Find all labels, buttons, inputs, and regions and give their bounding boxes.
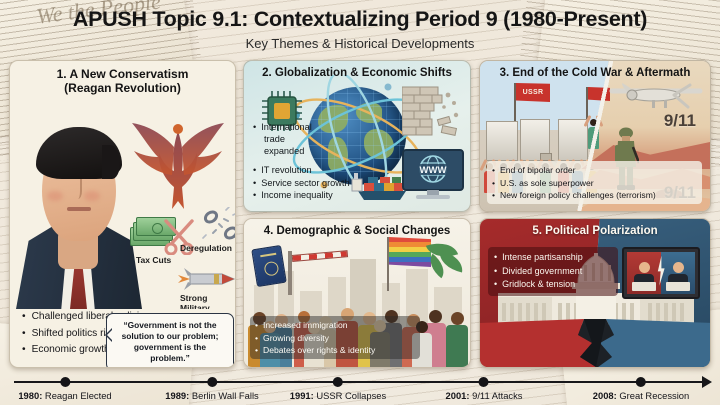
timeline-dot <box>60 377 70 387</box>
timeline-event-1991[interactable]: 1991: USSR Collapses <box>290 370 386 401</box>
timeline-event-1989[interactable]: 1989: Berlin Wall Falls <box>165 370 258 401</box>
list-item: Income inequality <box>253 189 365 201</box>
spacer <box>253 157 365 164</box>
panel-3-title: 3. End of the Cold War & Aftermath <box>480 61 710 81</box>
page-subtitle: Key Themes & Historical Developments <box>0 36 720 51</box>
reagan-portrait-icon <box>12 103 144 309</box>
www-monitor-icon: WWW <box>402 149 464 203</box>
timeline-dot <box>333 377 343 387</box>
tax-cuts-label: Tax Cuts <box>136 255 171 265</box>
list-item-cont: expanded <box>253 145 365 157</box>
svg-text:WWW: WWW <box>420 165 447 176</box>
panel-1-artwork: Tax Cuts Deregulation Strong Military <box>10 99 236 309</box>
list-item: Divided government <box>494 265 612 279</box>
panel-4-bullets: Increased immigration Growing diversity … <box>250 316 420 359</box>
tv-candidate-red <box>627 252 661 294</box>
list-item: End of bipolar order <box>492 164 697 176</box>
list-item: Growing diversity <box>255 332 415 344</box>
panel-globalization[interactable]: 2. Globalization & Economic Shifts <box>243 60 471 212</box>
timeline: 1980: Reagan Elected 1989: Berlin Wall F… <box>0 370 720 405</box>
list-item: Gridlock & tension <box>494 278 612 292</box>
timeline-event-2001[interactable]: 2001: 9/11 Attacks <box>446 370 523 401</box>
panel-demographic-changes[interactable]: 4. Demographic & Social Changes Increase… <box>243 218 471 368</box>
timeline-label: 1991: USSR Collapses <box>290 390 386 401</box>
panel-2-title: 2. Globalization & Economic Shifts <box>244 61 470 81</box>
reagan-quote-bubble: “Government is not the solution to our p… <box>106 313 234 368</box>
list-item: Intense partisanship <box>494 251 612 265</box>
timeline-dot <box>636 377 646 387</box>
ground-crack-icon <box>480 313 711 367</box>
tv-candidate-blue <box>661 252 695 294</box>
panel-2-bullets: International trade expanded IT revoluti… <box>253 121 365 201</box>
timeline-dot <box>479 377 489 387</box>
panel-1-title: 1. A New Conservatism (Reagan Revolution… <box>10 61 235 95</box>
timeline-label: 2008: Great Recession <box>593 390 689 401</box>
timeline-label: 2001: 9/11 Attacks <box>446 390 523 401</box>
rainbow-pride-flag-icon <box>389 237 431 267</box>
panel-3-bullets: End of bipolar order U.S. as sole superp… <box>487 161 702 204</box>
header: APUSH Topic 9.1: Contextualizing Period … <box>0 0 720 56</box>
crumbling-wall-icon <box>402 85 462 141</box>
list-item: Service sector growth <box>253 177 365 189</box>
timeline-event-2008[interactable]: 2008: Great Recession <box>593 370 689 401</box>
panel-4-title: 4. Demographic & Social Changes <box>244 219 470 239</box>
list-item-cont: trade <box>253 133 365 145</box>
panel-political-polarization[interactable]: 5. Political Polarization Intense partis… <box>479 218 711 368</box>
panel-new-conservatism[interactable]: 1. A New Conservatism (Reagan Revolution… <box>9 60 236 368</box>
tv-debate-screen <box>622 247 700 299</box>
timeline-label: 1989: Berlin Wall Falls <box>165 390 258 401</box>
missile-icon <box>178 267 236 291</box>
list-item: Debates over rights & identity <box>255 344 415 356</box>
strong-military-label: Strong Military <box>180 293 236 309</box>
list-item: Increased immigration <box>255 319 415 331</box>
timeline-event-1980[interactable]: 1980: Reagan Elected <box>18 370 111 401</box>
broken-chain-icon <box>202 207 236 243</box>
timeline-label: 1980: Reagan Elected <box>18 390 111 401</box>
panel-5-title: 5. Political Polarization <box>480 219 710 239</box>
timeline-arrow-icon <box>702 376 712 388</box>
list-item: IT revolution <box>253 164 365 176</box>
deregulation-label: Deregulation <box>180 243 232 253</box>
nine-eleven-label-top: 9/11 <box>664 111 696 131</box>
panel-end-cold-war[interactable]: USSR <box>479 60 711 212</box>
list-item: U.S. as sole superpower <box>492 177 697 189</box>
timeline-dot <box>207 377 217 387</box>
list-item: New foreign policy challenges (terrorism… <box>492 189 697 201</box>
list-item: International <box>253 121 365 133</box>
panel-5-bullets: Intense partisanship Divided government … <box>488 247 618 296</box>
page-title: APUSH Topic 9.1: Contextualizing Period … <box>0 7 720 32</box>
